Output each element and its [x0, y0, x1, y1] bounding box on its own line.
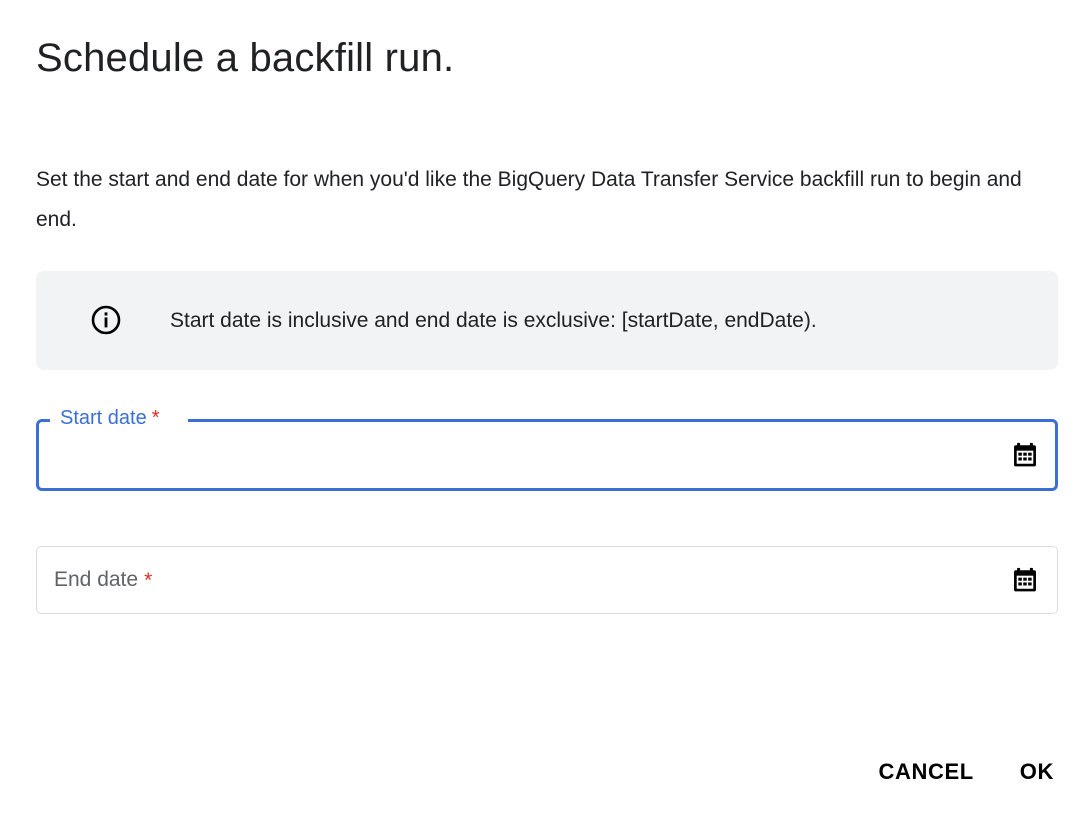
end-date-required-asterisk: *	[144, 570, 152, 591]
end-date-calendar-icon[interactable]	[1008, 563, 1042, 597]
dialog-actions: CANCEL OK	[865, 750, 1068, 794]
end-date-field[interactable]: End date*	[36, 546, 1058, 614]
end-date-outline	[36, 546, 1058, 614]
end-date-label-text: End date	[54, 568, 138, 592]
dialog-description: Set the start and end date for when you'…	[36, 160, 1054, 240]
info-banner: Start date is inclusive and end date is …	[36, 271, 1058, 370]
start-date-calendar-icon[interactable]	[1008, 438, 1042, 472]
ok-button[interactable]: OK	[1006, 750, 1068, 794]
page-title: Schedule a backfill run.	[36, 32, 454, 84]
end-date-label: End date*	[54, 546, 152, 614]
info-banner-text: Start date is inclusive and end date is …	[170, 271, 1042, 370]
start-date-input[interactable]	[54, 419, 988, 491]
start-date-field[interactable]: Start date*	[36, 419, 1058, 491]
schedule-backfill-dialog: Schedule a backfill run. Set the start a…	[0, 0, 1088, 816]
info-circle-icon	[90, 304, 122, 336]
cancel-button[interactable]: CANCEL	[865, 750, 988, 794]
